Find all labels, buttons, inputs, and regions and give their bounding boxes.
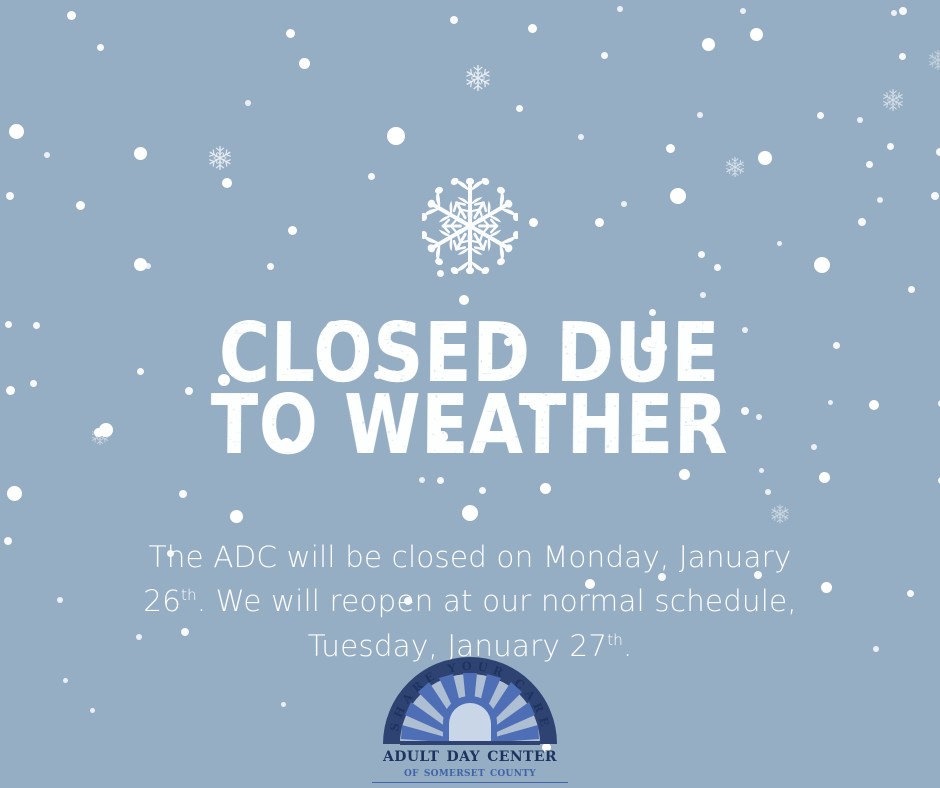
ordinal-suffix-27: th bbox=[607, 631, 623, 649]
snow-dot bbox=[702, 38, 715, 51]
headline-line-2: To Weather bbox=[75, 388, 865, 464]
snow-dot bbox=[368, 173, 375, 180]
snow-dot bbox=[230, 510, 243, 523]
logo-wordmark: Adult Day Center of Somerset County bbox=[372, 745, 568, 783]
snow-dot bbox=[666, 144, 675, 153]
snow-dot bbox=[931, 192, 939, 200]
snow-dot bbox=[145, 263, 151, 269]
snow-dot bbox=[67, 11, 76, 20]
snow-dot bbox=[437, 477, 444, 484]
logo-organization-name: Adult Day Center bbox=[372, 745, 568, 765]
snowflake-icon bbox=[465, 65, 491, 91]
snow-dot bbox=[750, 28, 763, 41]
snow-dot bbox=[76, 201, 85, 210]
snow-dot bbox=[288, 226, 297, 235]
snow-dot bbox=[222, 178, 232, 188]
snow-dot bbox=[134, 147, 147, 160]
snow-dot bbox=[245, 100, 251, 106]
snowflake-icon bbox=[928, 50, 940, 70]
adult-day-center-logo: SHARE YOUR CARE Adult Day Center of Some… bbox=[372, 651, 568, 783]
snow-dot bbox=[516, 105, 523, 112]
snow-dot bbox=[873, 646, 879, 652]
snowflake-icon bbox=[771, 505, 790, 524]
snow-dot bbox=[134, 258, 147, 271]
snow-dot bbox=[819, 472, 830, 483]
snow-dot bbox=[529, 218, 538, 227]
snow-dot bbox=[540, 483, 551, 494]
snow-dot bbox=[419, 477, 425, 483]
snow-dot bbox=[877, 197, 883, 203]
snow-dot bbox=[740, 8, 746, 14]
snow-dot bbox=[281, 702, 286, 707]
snow-dot bbox=[179, 490, 187, 498]
snow-dot bbox=[437, 270, 444, 277]
snow-dot bbox=[759, 468, 764, 473]
snow-dot bbox=[700, 292, 706, 298]
snow-dot bbox=[617, 6, 623, 12]
logo-organization-subtitle: of Somerset County bbox=[372, 766, 568, 784]
snow-dot bbox=[44, 152, 50, 158]
snow-dot bbox=[63, 678, 68, 683]
snow-dot bbox=[714, 264, 721, 271]
snowflake-icon bbox=[725, 157, 745, 177]
snow-dot bbox=[858, 218, 866, 226]
snowflake-icon bbox=[882, 89, 904, 111]
closure-message-part-3: . bbox=[623, 629, 632, 663]
snow-dot bbox=[97, 44, 104, 51]
snow-dot bbox=[286, 29, 295, 38]
snow-dot bbox=[479, 487, 486, 494]
snowflake-icon bbox=[208, 146, 232, 170]
snow-dot bbox=[907, 590, 914, 597]
snow-dot bbox=[601, 52, 608, 59]
snow-dot bbox=[670, 188, 686, 204]
snow-dot bbox=[817, 112, 824, 119]
snow-dot bbox=[899, 7, 907, 15]
snow-dot bbox=[936, 148, 940, 156]
snow-dot bbox=[578, 134, 584, 140]
weather-closure-poster: Closed Due To Weather The ADC will be cl… bbox=[0, 0, 940, 788]
snowflake-icon bbox=[422, 178, 518, 274]
snow-dot bbox=[765, 489, 771, 495]
headline: Closed Due To Weather bbox=[0, 316, 940, 465]
snow-dot bbox=[697, 112, 703, 118]
snow-dot bbox=[9, 124, 24, 139]
snow-dot bbox=[891, 10, 897, 16]
snow-dot bbox=[57, 597, 63, 603]
snow-dot bbox=[528, 24, 537, 33]
ordinal-suffix-26: th bbox=[181, 586, 197, 604]
snow-dot bbox=[908, 286, 915, 293]
snow-dot bbox=[450, 16, 458, 24]
snow-dot bbox=[698, 251, 705, 258]
snow-dot bbox=[90, 708, 95, 713]
snow-dot bbox=[821, 582, 832, 593]
snow-dot bbox=[462, 505, 478, 521]
snow-dot bbox=[459, 295, 469, 305]
snow-dot bbox=[899, 53, 906, 60]
snow-dot bbox=[777, 241, 782, 246]
snow-dot bbox=[866, 161, 873, 168]
snow-dot bbox=[6, 192, 14, 200]
snow-dot bbox=[857, 117, 863, 123]
snow-dot bbox=[887, 143, 894, 150]
logo-sunburst-mark: SHARE YOUR CARE bbox=[377, 651, 563, 747]
snow-dot bbox=[7, 486, 22, 501]
snow-dot bbox=[267, 263, 274, 270]
snow-dot bbox=[4, 537, 12, 545]
closure-message: The ADC will be closed on Monday, Januar… bbox=[118, 535, 822, 669]
snow-dot bbox=[758, 151, 772, 165]
snow-dot bbox=[299, 58, 310, 69]
snow-dot bbox=[595, 218, 604, 227]
snow-dot bbox=[387, 127, 405, 145]
snow-dot bbox=[621, 201, 627, 207]
snow-dot bbox=[814, 257, 830, 273]
